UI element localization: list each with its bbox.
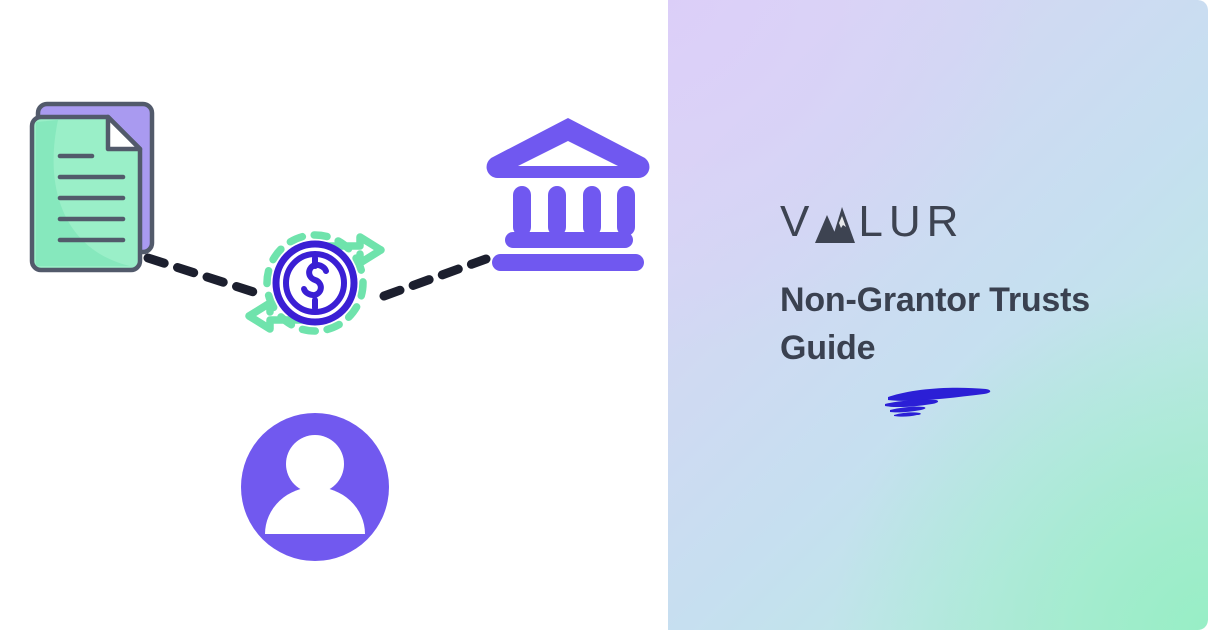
bank-columns xyxy=(513,186,635,236)
valur-logo: V L U R xyxy=(780,196,1180,248)
illustration-panel xyxy=(0,0,668,630)
bank-base-bar-lower xyxy=(492,254,644,271)
mountain-icon xyxy=(811,201,857,245)
connector-money-to-bank xyxy=(384,259,486,296)
valur-logo-letter-l: L xyxy=(858,200,888,244)
underline-swoosh xyxy=(880,379,1010,423)
valur-logo-letter-v: V xyxy=(780,200,815,244)
guide-cover-card: V L U R Non-Grantor Trusts Guide xyxy=(0,0,1208,630)
valur-logo-letter-r: R xyxy=(927,200,965,244)
bank-base-bar-upper xyxy=(505,232,633,248)
trust-flow-illustration xyxy=(0,0,668,630)
avatar-head xyxy=(286,435,344,493)
beneficiary-avatar-icon xyxy=(241,413,389,561)
brand-panel: V L U R Non-Grantor Trusts Guide xyxy=(668,0,1208,630)
trust-document-icon xyxy=(32,104,152,270)
bank-roof xyxy=(487,118,650,178)
brand-block: V L U R Non-Grantor Trusts Guide xyxy=(780,196,1180,423)
page-title: Non-Grantor Trusts Guide xyxy=(780,276,1140,373)
valur-logo-letter-u: U xyxy=(889,200,927,244)
money-transfer-icon xyxy=(249,235,381,331)
bank-icon xyxy=(487,118,650,271)
connector-document-to-money xyxy=(148,258,266,296)
